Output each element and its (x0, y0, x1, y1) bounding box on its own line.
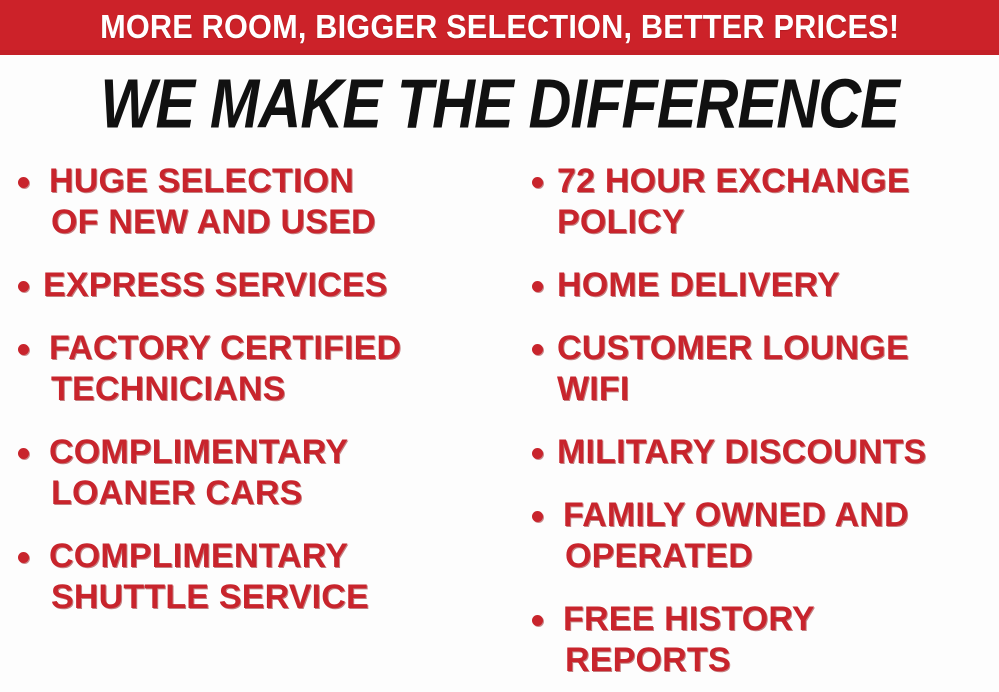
list-item: 72 HOUR EXCHANGE POLICY (532, 161, 999, 243)
list-item: COMPLIMENTARY SHUTTLE SERVICE (18, 536, 512, 618)
list-item: COMPLIMENTARY LOANER CARS (18, 432, 512, 514)
list-item: HUGE SELECTION OF NEW AND USED (18, 161, 512, 243)
list-item-label: COMPLIMENTARY SHUTTLE SERVICE (43, 536, 512, 618)
top-promo-banner: MORE ROOM, BIGGER SELECTION, BETTER PRIC… (0, 0, 999, 55)
benefits-column-right: 72 HOUR EXCHANGE POLICY HOME DELIVERY CU… (512, 155, 999, 692)
bullet-dot-icon (532, 448, 543, 459)
list-item: FACTORY CERTIFIED TECHNICIANS (18, 328, 512, 410)
list-item: MILITARY DISCOUNTS (532, 432, 999, 473)
page-title: WE MAKE THE DIFFERENCE (0, 68, 999, 138)
list-item: HOME DELIVERY (532, 265, 999, 306)
list-item-label: 72 HOUR EXCHANGE POLICY (557, 161, 999, 243)
page-title-text: WE MAKE THE DIFFERENCE (100, 66, 899, 140)
benefits-column-left: HUGE SELECTION OF NEW AND USED EXPRESS S… (0, 155, 512, 692)
list-item: CUSTOMER LOUNGE WIFI (532, 328, 999, 410)
bullet-dot-icon (18, 552, 29, 563)
list-item: FAMILY OWNED AND OPERATED (532, 495, 999, 577)
list-item-label: EXPRESS SERVICES (43, 265, 512, 306)
list-item-label: FACTORY CERTIFIED TECHNICIANS (43, 328, 512, 410)
bullet-dot-icon (18, 281, 29, 292)
bullet-dot-icon (532, 281, 543, 292)
list-item-label: FAMILY OWNED AND OPERATED (557, 495, 999, 577)
bullet-dot-icon (18, 448, 29, 459)
list-item-label: HUGE SELECTION OF NEW AND USED (43, 161, 512, 243)
list-item: FREE HISTORY REPORTS (532, 599, 999, 681)
list-item-label: COMPLIMENTARY LOANER CARS (43, 432, 512, 514)
top-promo-banner-text: MORE ROOM, BIGGER SELECTION, BETTER PRIC… (100, 10, 899, 45)
bullet-dot-icon (18, 177, 29, 188)
list-item-label: HOME DELIVERY (557, 265, 999, 306)
list-item: EXPRESS SERVICES (18, 265, 512, 306)
bullet-dot-icon (18, 344, 29, 355)
promo-banner-graphic: MORE ROOM, BIGGER SELECTION, BETTER PRIC… (0, 0, 999, 692)
bullet-dot-icon (532, 344, 543, 355)
list-item-label: FREE HISTORY REPORTS (557, 599, 999, 681)
bullet-dot-icon (532, 615, 543, 626)
bullet-dot-icon (532, 511, 543, 522)
benefits-columns: HUGE SELECTION OF NEW AND USED EXPRESS S… (0, 155, 999, 692)
bullet-dot-icon (532, 177, 543, 188)
list-item-label: MILITARY DISCOUNTS (557, 432, 999, 473)
banner-bottom-edge (0, 50, 999, 55)
list-item-label: CUSTOMER LOUNGE WIFI (557, 328, 999, 410)
